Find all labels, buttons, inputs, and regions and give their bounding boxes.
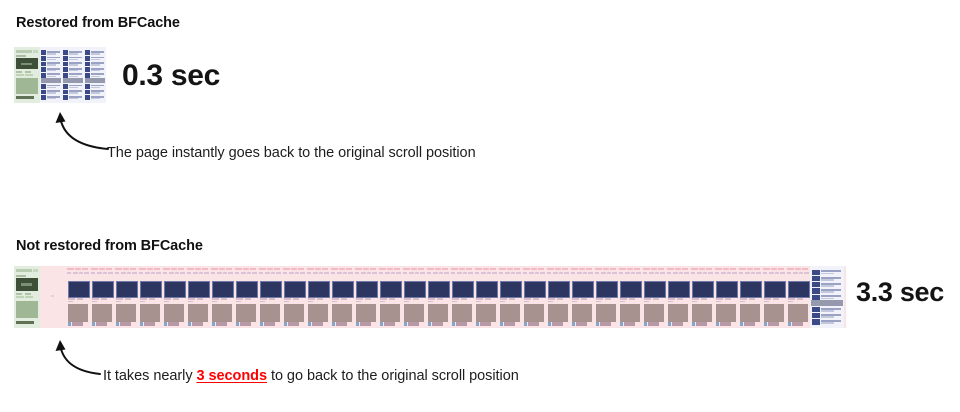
list-thumb: [63, 84, 68, 89]
page-skeleton-block: [103, 272, 107, 274]
placeholder-dot: [51, 295, 53, 297]
page-skeleton-block: [547, 272, 551, 274]
page-skeleton-block: [379, 272, 383, 274]
footer-chip: [380, 322, 383, 326]
page-skeleton-block: [130, 268, 136, 270]
footer-chip: [384, 322, 396, 326]
page-skeleton-block: [740, 301, 745, 302]
footer-chip: [288, 322, 300, 326]
list-subline: [69, 64, 78, 65]
page-skeleton-block: [756, 272, 760, 274]
footer-chip: [672, 322, 684, 326]
mauve-image-block: [452, 304, 473, 321]
list-subline: [91, 70, 100, 71]
navy-hero-block: [236, 281, 258, 298]
page-skeleton-block: [579, 268, 585, 270]
page-skeleton-block: [73, 272, 78, 274]
filmstrip-frame-loading: [306, 266, 330, 328]
page-skeleton-block: [415, 272, 419, 274]
filmstrip-frame-loading: [282, 266, 306, 328]
footer-chip: [408, 322, 420, 326]
page-skeleton-block: [751, 272, 755, 274]
mauve-image-block: [380, 304, 401, 321]
list-thumb: [812, 270, 819, 275]
mauve-image-block: [356, 304, 377, 321]
list-thumb: [41, 67, 46, 72]
page-skeleton-block: [132, 272, 136, 274]
list-thumb: [85, 67, 90, 72]
page-skeleton-block: [764, 301, 769, 302]
page-skeleton-block: [778, 268, 784, 270]
page-skeleton-block: [219, 268, 225, 270]
list-subline: [47, 92, 56, 93]
page-skeleton-block: [636, 272, 640, 274]
footer-chip: [240, 322, 252, 326]
page-skeleton-block: [524, 301, 529, 302]
page-skeleton-block: [195, 268, 201, 270]
time-label-not-restored: 3.3 sec: [856, 277, 944, 308]
list-thumb: [41, 84, 46, 89]
footer-chip: [624, 322, 636, 326]
page-skeleton-block: [572, 301, 577, 302]
filmstrip-frame-loading: [186, 266, 210, 328]
page-skeleton-block: [804, 272, 808, 274]
footer-chip: [668, 322, 671, 326]
page-skeleton-block: [715, 268, 722, 270]
footer-chip: [572, 322, 575, 326]
page-skeleton-block: [754, 268, 760, 270]
page-skeleton-block: [668, 301, 673, 302]
page-skeleton-block: [703, 272, 707, 274]
page-skeleton-block: [660, 272, 664, 274]
page-skeleton-block: [457, 272, 462, 274]
list-subline: [47, 76, 56, 77]
page-skeleton-block: [355, 272, 359, 274]
page-skeleton-block: [596, 301, 601, 302]
page-skeleton-block: [730, 268, 736, 270]
page-skeleton-block: [788, 298, 795, 299]
page-skeleton-block: [763, 272, 767, 274]
mauve-image-block: [524, 304, 545, 321]
navy-hero-block: [308, 281, 330, 298]
page-skeleton-block: [435, 268, 441, 270]
page-skeleton-block: [699, 268, 705, 270]
page-skeleton-block: [197, 298, 203, 299]
page-skeleton-block: [21, 63, 31, 65]
page-skeleton-block: [125, 298, 131, 299]
page-skeleton-block: [140, 301, 145, 302]
mauve-image-block: [92, 304, 113, 321]
page-skeleton-block: [139, 272, 143, 274]
footer-chip: [764, 322, 767, 326]
page-skeleton-block: [485, 298, 491, 299]
navy-hero-block: [788, 281, 810, 298]
filmstrip-frame-loading: [354, 266, 378, 328]
page-skeleton-block: [795, 268, 801, 270]
footer-chip: [600, 322, 612, 326]
mauve-image-block: [260, 304, 281, 321]
page-skeleton-block: [16, 301, 39, 318]
page-skeleton-block: [25, 74, 33, 76]
page-skeleton-block: [16, 296, 25, 298]
page-skeleton-block: [67, 268, 74, 270]
page-skeleton-block: [396, 272, 400, 274]
page-skeleton-block: [199, 272, 203, 274]
page-skeleton-block: [788, 301, 793, 302]
list-subline: [91, 98, 100, 99]
page-skeleton-block: [404, 301, 409, 302]
page-skeleton-block: [427, 268, 434, 270]
page-skeleton-block: [452, 301, 457, 302]
page-skeleton-block: [236, 298, 243, 299]
page-skeleton-block: [403, 272, 407, 274]
filmstrip-frame-loading: [66, 266, 90, 328]
page-skeleton-block: [625, 272, 630, 274]
mauve-image-block: [284, 304, 305, 321]
mauve-image-block: [668, 304, 689, 321]
page-skeleton-block: [581, 298, 587, 299]
page-skeleton-block: [583, 272, 587, 274]
filmstrip-frame-loading: [738, 266, 762, 328]
list-thumb: [85, 73, 90, 78]
page-skeleton-block: [444, 272, 448, 274]
page-skeleton-block: [33, 50, 39, 53]
page-skeleton-block: [361, 272, 366, 274]
page-skeleton-block: [691, 268, 698, 270]
page-skeleton-block: [380, 298, 387, 299]
footer-chip: [284, 322, 287, 326]
page-skeleton-block: [769, 272, 774, 274]
page-skeleton-block: [16, 321, 34, 324]
page-skeleton-block: [106, 268, 112, 270]
page-skeleton-block: [173, 298, 179, 299]
list-thumb: [85, 84, 90, 89]
page-skeleton-block: [82, 268, 88, 270]
filmstrip-frame-loading: [258, 266, 282, 328]
filmstrip-frame-loading: [90, 266, 114, 328]
page-skeleton-block: [427, 272, 431, 274]
list-highlight-band: [41, 78, 61, 84]
page-skeleton-block: [91, 272, 95, 274]
page-skeleton-block: [487, 272, 491, 274]
page-skeleton-block: [101, 298, 107, 299]
mauve-image-block: [500, 304, 521, 321]
page-skeleton-block: [476, 298, 483, 299]
page-skeleton-block: [619, 268, 626, 270]
page-skeleton-block: [259, 268, 266, 270]
footer-chip: [456, 322, 468, 326]
page-skeleton-block: [500, 298, 507, 299]
footer-chip: [356, 322, 359, 326]
page-skeleton-block: [763, 268, 770, 270]
page-skeleton-block: [555, 268, 561, 270]
page-skeleton-block: [212, 301, 217, 302]
mauve-image-block: [332, 304, 353, 321]
navy-hero-block: [692, 281, 714, 298]
filmstrip-frame-loading: [522, 266, 546, 328]
list-subline: [91, 87, 100, 88]
list-subline: [47, 53, 56, 54]
list-subline: [91, 53, 100, 54]
page-skeleton-block: [562, 268, 568, 270]
list-highlight-band: [811, 300, 842, 306]
footer-chip: [72, 322, 84, 326]
mauve-image-block: [764, 304, 785, 321]
page-skeleton-block: [84, 272, 88, 274]
page-skeleton-block: [564, 272, 568, 274]
footer-chip: [404, 322, 407, 326]
navy-hero-block: [764, 281, 786, 298]
navy-hero-block: [404, 281, 426, 298]
page-skeleton-block: [572, 298, 579, 299]
page-skeleton-block: [164, 301, 169, 302]
page-skeleton-block: [355, 268, 362, 270]
page-skeleton-block: [91, 268, 98, 270]
page-skeleton-block: [634, 268, 640, 270]
mauve-image-block: [788, 304, 809, 321]
filmstrip-frame-loading: [402, 266, 426, 328]
page-skeleton-block: [605, 298, 611, 299]
filmstrip-frame-loading: [786, 266, 810, 328]
navy-hero-block: [332, 281, 354, 298]
filmstrip-frame-loading: [498, 266, 522, 328]
page-skeleton-block: [276, 272, 280, 274]
caption-not-restored: It takes nearly 3 seconds to go back to …: [103, 368, 519, 384]
navy-hero-block: [140, 281, 162, 298]
caption-restored: The page instantly goes back to the orig…: [107, 145, 476, 161]
page-skeleton-block: [420, 272, 424, 274]
list-thumb: [85, 62, 90, 67]
list-subline: [91, 92, 100, 93]
list-subline: [47, 87, 56, 88]
page-skeleton-block: [245, 298, 251, 299]
page-skeleton-block: [193, 272, 198, 274]
page-skeleton-block: [151, 272, 155, 274]
page-skeleton-block: [25, 296, 33, 298]
page-skeleton-block: [557, 298, 563, 299]
list-highlight-band: [85, 78, 105, 84]
page-skeleton-block: [540, 272, 544, 274]
page-skeleton-block: [217, 272, 222, 274]
page-skeleton-block: [529, 272, 534, 274]
footer-chip: [336, 322, 348, 326]
mauve-image-block: [404, 304, 425, 321]
list-thumb: [85, 50, 90, 55]
page-skeleton-block: [356, 301, 361, 302]
page-skeleton-block: [331, 268, 338, 270]
footer-chip: [552, 322, 564, 326]
page-skeleton-block: [171, 268, 177, 270]
page-skeleton-block: [67, 272, 71, 274]
filmstrip-frame-original-page: [14, 47, 40, 103]
page-skeleton-block: [727, 272, 731, 274]
page-skeleton-block: [483, 268, 489, 270]
navy-hero-block: [284, 281, 306, 298]
page-skeleton-block: [307, 272, 311, 274]
page-skeleton-block: [308, 301, 313, 302]
footer-chip: [644, 322, 647, 326]
page-skeleton-block: [799, 272, 803, 274]
page-skeleton-block: [771, 268, 777, 270]
page-skeleton-block: [363, 268, 369, 270]
list-thumb: [63, 56, 68, 61]
page-skeleton-block: [116, 298, 123, 299]
page-skeleton-block: [295, 272, 299, 274]
page-skeleton-block: [163, 272, 167, 274]
list-subline: [821, 279, 835, 281]
navy-hero-block: [380, 281, 402, 298]
page-skeleton-block: [291, 268, 297, 270]
page-skeleton-block: [500, 301, 505, 302]
page-skeleton-block: [385, 272, 390, 274]
filmstrip-frame-loading: [114, 266, 138, 328]
page-skeleton-block: [188, 298, 195, 299]
list-thumb: [41, 50, 46, 55]
page-skeleton-block: [667, 272, 671, 274]
page-skeleton-block: [332, 298, 339, 299]
page-skeleton-block: [466, 268, 472, 270]
mauve-image-block: [740, 304, 761, 321]
page-skeleton-block: [365, 298, 371, 299]
navy-hero-block: [356, 281, 378, 298]
page-skeleton-block: [509, 298, 515, 299]
page-skeleton-block: [394, 268, 400, 270]
page-skeleton-block: [577, 272, 582, 274]
page-skeleton-block: [668, 298, 675, 299]
footer-chip: [192, 322, 204, 326]
footer-chip: [792, 322, 804, 326]
page-skeleton-block: [437, 298, 443, 299]
footer-chip: [308, 322, 311, 326]
page-skeleton-block: [692, 301, 697, 302]
page-skeleton-block: [379, 268, 386, 270]
mauve-image-block: [140, 304, 161, 321]
page-skeleton-block: [391, 272, 395, 274]
footer-chip: [332, 322, 335, 326]
page-skeleton-block: [156, 272, 160, 274]
page-skeleton-block: [631, 272, 635, 274]
page-skeleton-block: [154, 268, 160, 270]
footer-chip: [216, 322, 228, 326]
footer-chip: [716, 322, 719, 326]
page-skeleton-block: [793, 272, 798, 274]
page-skeleton-block: [283, 272, 287, 274]
page-skeleton-block: [341, 298, 347, 299]
list-thumb: [41, 95, 46, 100]
page-skeleton-block: [260, 298, 267, 299]
list-subline: [47, 59, 56, 60]
navy-hero-block: [620, 281, 642, 298]
footer-chip: [144, 322, 156, 326]
page-skeleton-block: [643, 272, 647, 274]
page-skeleton-block: [267, 268, 273, 270]
page-skeleton-block: [211, 272, 215, 274]
filmstrip-not-restored: [14, 266, 846, 328]
filmstrip-frame-loading: [762, 266, 786, 328]
page-skeleton-block: [265, 272, 270, 274]
page-skeleton-block: [123, 268, 129, 270]
page-skeleton-block: [387, 268, 393, 270]
page-skeleton-block: [409, 272, 414, 274]
filmstrip-frame-loading: [210, 266, 234, 328]
mauve-image-block: [620, 304, 641, 321]
page-skeleton-block: [725, 298, 731, 299]
page-skeleton-block: [235, 268, 242, 270]
footer-chip: [428, 322, 431, 326]
page-skeleton-block: [348, 272, 352, 274]
page-skeleton-block: [243, 268, 249, 270]
page-skeleton-block: [533, 298, 539, 299]
footer-chip: [744, 322, 756, 326]
page-skeleton-block: [212, 298, 219, 299]
page-skeleton-block: [259, 272, 263, 274]
page-skeleton-block: [629, 298, 635, 299]
list-thumb: [812, 313, 819, 318]
page-skeleton-block: [475, 268, 482, 270]
page-skeleton-block: [514, 268, 520, 270]
list-subline: [69, 76, 78, 77]
list-subline: [821, 316, 835, 318]
caption-highlight-3-seconds: 3 seconds: [197, 368, 267, 384]
mauve-image-block: [596, 304, 617, 321]
page-skeleton-block: [468, 272, 472, 274]
filmstrip-frame-original-page: [14, 266, 40, 328]
page-skeleton-block: [505, 272, 510, 274]
page-skeleton-block: [499, 268, 506, 270]
filmstrip-restored: [14, 47, 106, 103]
page-skeleton-block: [627, 268, 633, 270]
filmstrip-frame-loading: [234, 266, 258, 328]
footer-chip: [264, 322, 276, 326]
page-skeleton-block: [284, 298, 291, 299]
navy-hero-block: [596, 281, 618, 298]
page-skeleton-block: [553, 272, 558, 274]
page-skeleton-block: [451, 268, 458, 270]
filmstrip-frame-loading: [162, 266, 186, 328]
page-skeleton-block: [732, 272, 736, 274]
page-skeleton-block: [139, 268, 146, 270]
filmstrip-frame-loading: [138, 266, 162, 328]
page-skeleton-block: [682, 268, 688, 270]
footer-chip: [312, 322, 324, 326]
page-skeleton-block: [773, 298, 779, 299]
page-skeleton-block: [538, 268, 544, 270]
navy-hero-block: [500, 281, 522, 298]
page-skeleton-block: [658, 268, 664, 270]
footer-chip: [548, 322, 551, 326]
page-skeleton-block: [346, 268, 352, 270]
page-skeleton-block: [164, 298, 171, 299]
page-skeleton-block: [77, 298, 83, 299]
list-thumb: [812, 276, 819, 281]
mauve-image-block: [116, 304, 137, 321]
filmstrip-frame-loading: [378, 266, 402, 328]
footer-chip: [596, 322, 599, 326]
list-thumb: [812, 282, 819, 287]
navy-hero-block: [668, 281, 690, 298]
navy-hero-block: [740, 281, 762, 298]
page-skeleton-block: [523, 268, 530, 270]
page-skeleton-block: [603, 268, 609, 270]
page-skeleton-block: [236, 301, 241, 302]
page-skeleton-block: [140, 298, 147, 299]
mauve-image-block: [212, 304, 233, 321]
list-subline: [47, 70, 56, 71]
page-skeleton-block: [775, 272, 779, 274]
footer-chip: [168, 322, 180, 326]
heading-not-restored-from-bfcache: Not restored from BFCache: [16, 238, 203, 254]
page-skeleton-block: [16, 275, 27, 277]
